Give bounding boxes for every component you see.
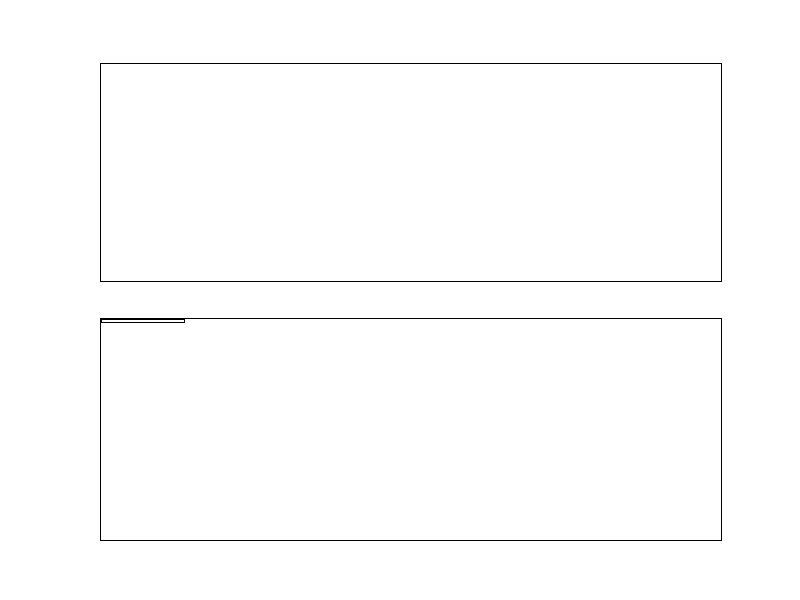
top-chart-plot-area [100,63,722,282]
cumulative-curve [101,319,721,540]
bottom-chart-plot-area [100,318,722,541]
mag-limit-line-swatch [112,320,154,322]
legend[interactable] [101,319,185,323]
figure-canvas [0,0,800,600]
